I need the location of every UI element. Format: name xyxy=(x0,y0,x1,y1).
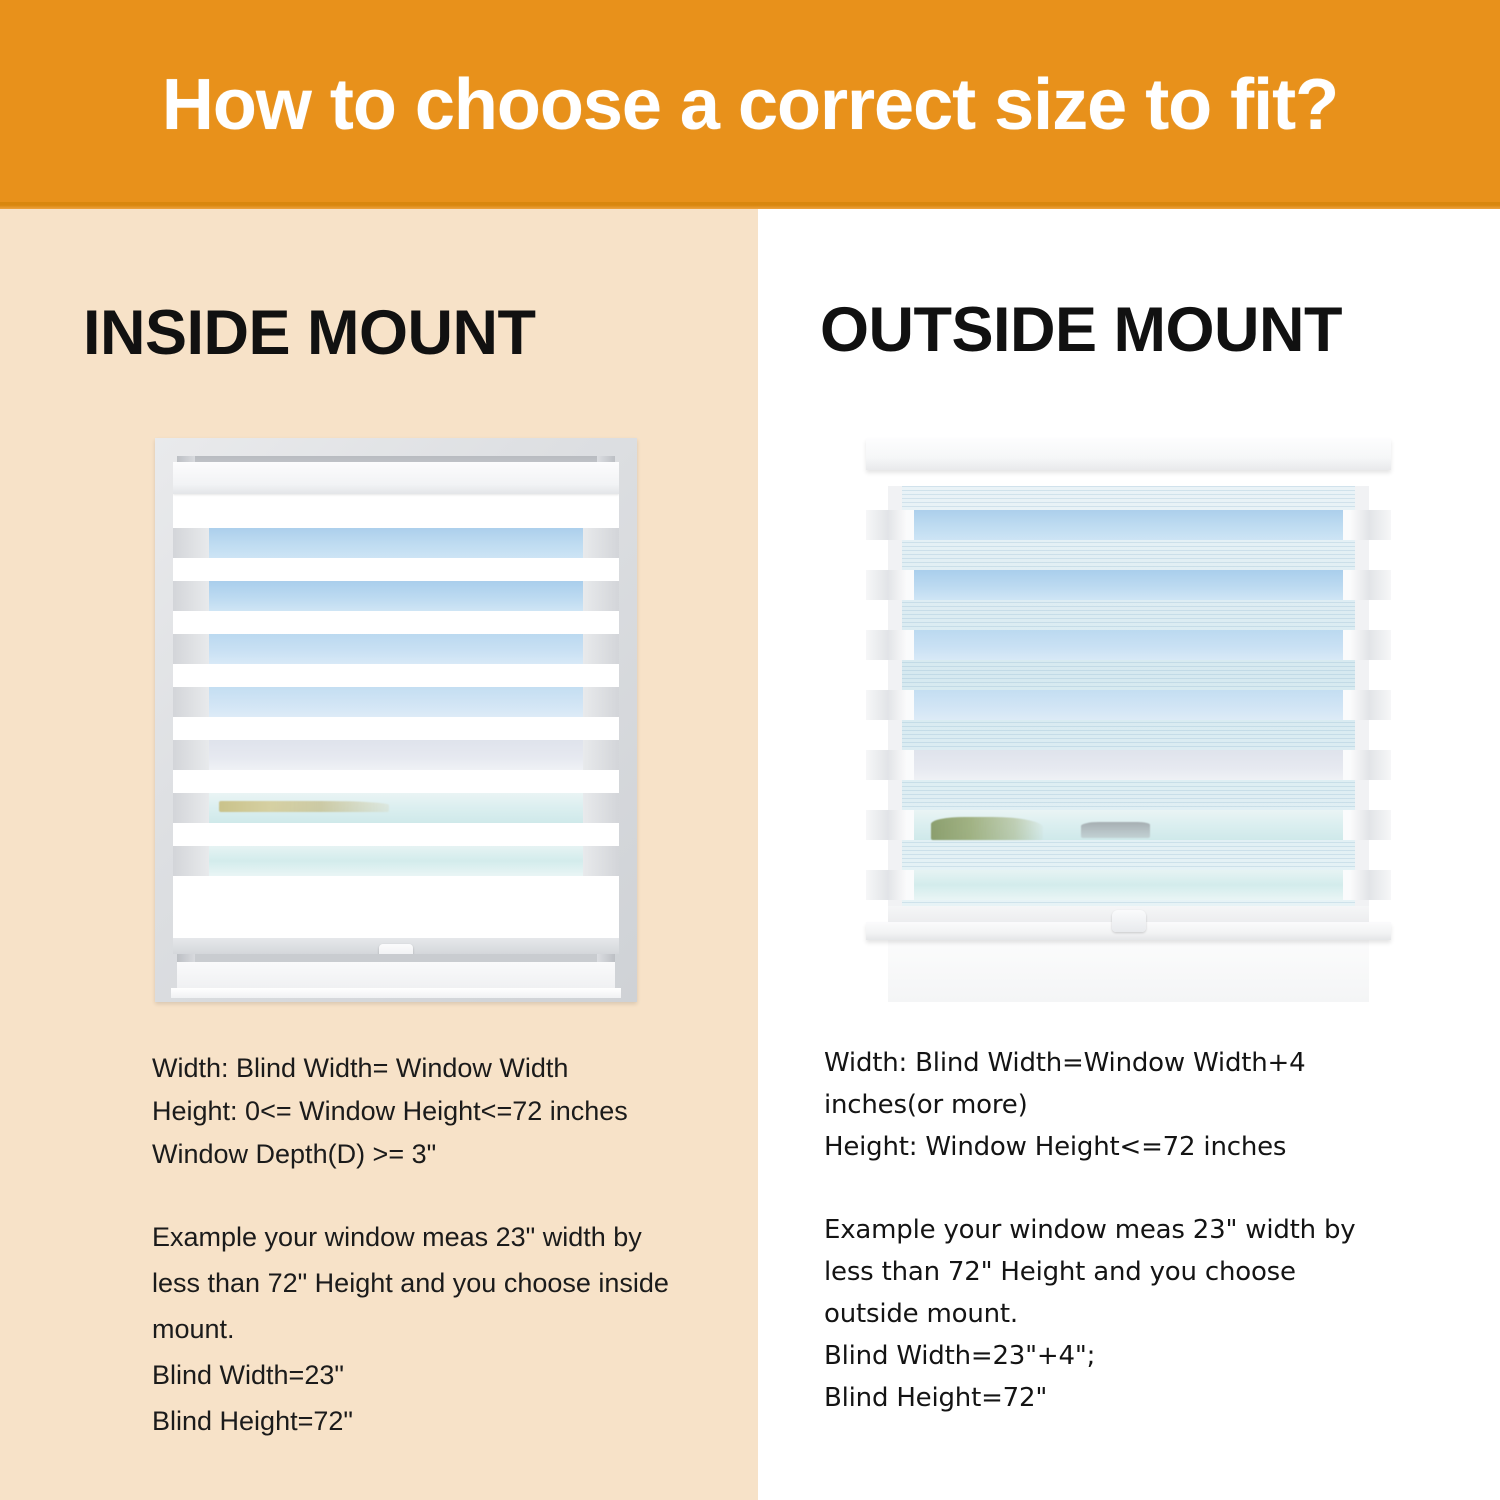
stripe-view-sky xyxy=(209,687,583,717)
stripe-edge-right xyxy=(583,581,619,611)
stripe-view-island xyxy=(209,793,583,823)
stripe-edge-right xyxy=(583,846,619,876)
stripe-edge-right xyxy=(583,740,619,770)
outside-mounted-blind xyxy=(866,438,1391,1002)
blind-stripe xyxy=(173,740,619,770)
stripe-view-sky xyxy=(209,634,583,664)
stripe-view-sky xyxy=(914,570,1343,600)
outside-mount-example: Example your window meas 23" width by le… xyxy=(824,1209,1444,1419)
inside-mount-window-illustration xyxy=(155,438,637,1002)
blind-stripe xyxy=(866,870,1391,900)
stripe-cap-right xyxy=(1343,810,1351,840)
rule-line: Height: Window Height<=72 inches xyxy=(824,1126,1444,1168)
rule-line: Window Depth(D) >= 3" xyxy=(152,1133,732,1176)
blind-stripe xyxy=(173,581,619,611)
example-line: Blind Height=72" xyxy=(152,1398,732,1444)
stripe-band-right xyxy=(1351,750,1391,780)
stripe-view-horizon-haze xyxy=(914,750,1343,780)
stripe-view-sea xyxy=(914,870,1343,900)
blind-headrail xyxy=(173,462,619,494)
stripe-cap-left xyxy=(906,810,914,840)
stripe-band-right xyxy=(1351,630,1391,660)
header-banner: How to choose a correct size to fit? xyxy=(0,0,1500,209)
inside-mount-title: INSIDE MOUNT xyxy=(83,297,536,369)
stripe-edge-left xyxy=(173,634,209,664)
example-line: Blind Width=23"+4"; xyxy=(824,1335,1444,1377)
outside-mount-window-illustration xyxy=(866,438,1391,1002)
outside-mount-title: OUTSIDE MOUNT xyxy=(820,294,1342,366)
stripe-edge-right xyxy=(583,793,619,823)
rule-line: Height: 0<= Window Height<=72 inches xyxy=(152,1090,732,1133)
blind-stripe xyxy=(866,810,1391,840)
blind-pull-knob[interactable] xyxy=(379,944,413,954)
blind-stripe xyxy=(866,630,1391,660)
stripe-view-sky xyxy=(209,528,583,558)
stripe-view-island xyxy=(914,810,1343,840)
stripe-view-sky xyxy=(914,690,1343,720)
example-line: outside mount. xyxy=(824,1293,1444,1335)
stripe-band-left xyxy=(866,630,906,660)
blind-stripe xyxy=(173,687,619,717)
blind-stripe xyxy=(866,510,1391,540)
stripe-cap-right xyxy=(1343,870,1351,900)
blind-stripe xyxy=(173,793,619,823)
stripe-cap-right xyxy=(1343,690,1351,720)
stripe-cap-left xyxy=(906,510,914,540)
example-line: Blind Width=23" xyxy=(152,1352,732,1398)
blind-stripe xyxy=(866,570,1391,600)
stripe-band-right xyxy=(1351,870,1391,900)
stripe-band-left xyxy=(866,870,906,900)
stripe-edge-left xyxy=(173,528,209,558)
blind-stripe xyxy=(866,690,1391,720)
stripe-cap-left xyxy=(906,570,914,600)
stripe-view-sky xyxy=(914,630,1343,660)
stripe-band-left xyxy=(866,690,906,720)
stripe-cap-right xyxy=(1343,510,1351,540)
panel-inside-mount: INSIDE MOUNT xyxy=(0,209,758,1500)
stripe-band-left xyxy=(866,510,906,540)
example-line: less than 72" Height and you choose xyxy=(824,1251,1444,1293)
stripe-band-left xyxy=(866,810,906,840)
rule-line: Width: Blind Width=Window Width+4 xyxy=(824,1042,1444,1084)
stripe-band-right xyxy=(1351,690,1391,720)
outside-mount-rules: Width: Blind Width=Window Width+4 inches… xyxy=(824,1042,1444,1168)
rule-line: inches(or more) xyxy=(824,1084,1444,1126)
example-line: less than 72" Height and you choose insi… xyxy=(152,1260,732,1306)
stripe-edge-left xyxy=(173,793,209,823)
stripe-edge-left xyxy=(173,581,209,611)
stripe-cap-left xyxy=(906,750,914,780)
blind-stripe xyxy=(173,634,619,664)
stripe-edge-left xyxy=(173,687,209,717)
stripe-view-sea xyxy=(209,846,583,876)
stripe-cap-left xyxy=(906,690,914,720)
island-shape-green xyxy=(931,817,1043,840)
blind-pull-knob[interactable] xyxy=(1112,910,1146,932)
blind-stripe xyxy=(866,750,1391,780)
example-line: Blind Height=72" xyxy=(824,1377,1444,1419)
example-line: Example your window meas 23" width by xyxy=(152,1214,732,1260)
island-shape-rock xyxy=(1081,822,1150,838)
infographic-page: How to choose a correct size to fit? INS… xyxy=(0,0,1500,1500)
stripe-cap-right xyxy=(1343,630,1351,660)
stripe-cap-left xyxy=(906,630,914,660)
blind-headrail xyxy=(866,438,1391,470)
example-line: mount. xyxy=(152,1306,732,1352)
inside-mount-rules: Width: Blind Width= Window Width Height:… xyxy=(152,1047,732,1176)
panel-outside-mount: OUTSIDE MOUNT xyxy=(758,209,1500,1500)
stripe-edge-right xyxy=(583,528,619,558)
panels-container: INSIDE MOUNT xyxy=(0,209,1500,1500)
stripe-view-sky xyxy=(914,510,1343,540)
stripe-cap-left xyxy=(906,870,914,900)
window-sill-lip xyxy=(171,988,621,998)
stripe-view-horizon-haze xyxy=(209,740,583,770)
stripe-view-sky xyxy=(209,581,583,611)
window-glass-with-blind xyxy=(173,462,619,954)
blind-stripe xyxy=(173,528,619,558)
stripe-edge-right xyxy=(583,634,619,664)
stripe-band-right xyxy=(1351,510,1391,540)
rule-line: Width: Blind Width= Window Width xyxy=(152,1047,732,1090)
stripe-edge-left xyxy=(173,740,209,770)
stripe-cap-right xyxy=(1343,570,1351,600)
example-line: Example your window meas 23" width by xyxy=(824,1209,1444,1251)
stripe-band-left xyxy=(866,570,906,600)
stripe-edge-left xyxy=(173,846,209,876)
blind-stripe xyxy=(173,846,619,876)
stripe-edge-right xyxy=(583,687,619,717)
island-shape xyxy=(219,801,389,811)
stripe-band-right xyxy=(1351,810,1391,840)
stripe-band-right xyxy=(1351,570,1391,600)
stripe-cap-right xyxy=(1343,750,1351,780)
inside-mount-example: Example your window meas 23" width by le… xyxy=(152,1214,732,1444)
stripe-band-left xyxy=(866,750,906,780)
page-title: How to choose a correct size to fit? xyxy=(162,64,1338,146)
